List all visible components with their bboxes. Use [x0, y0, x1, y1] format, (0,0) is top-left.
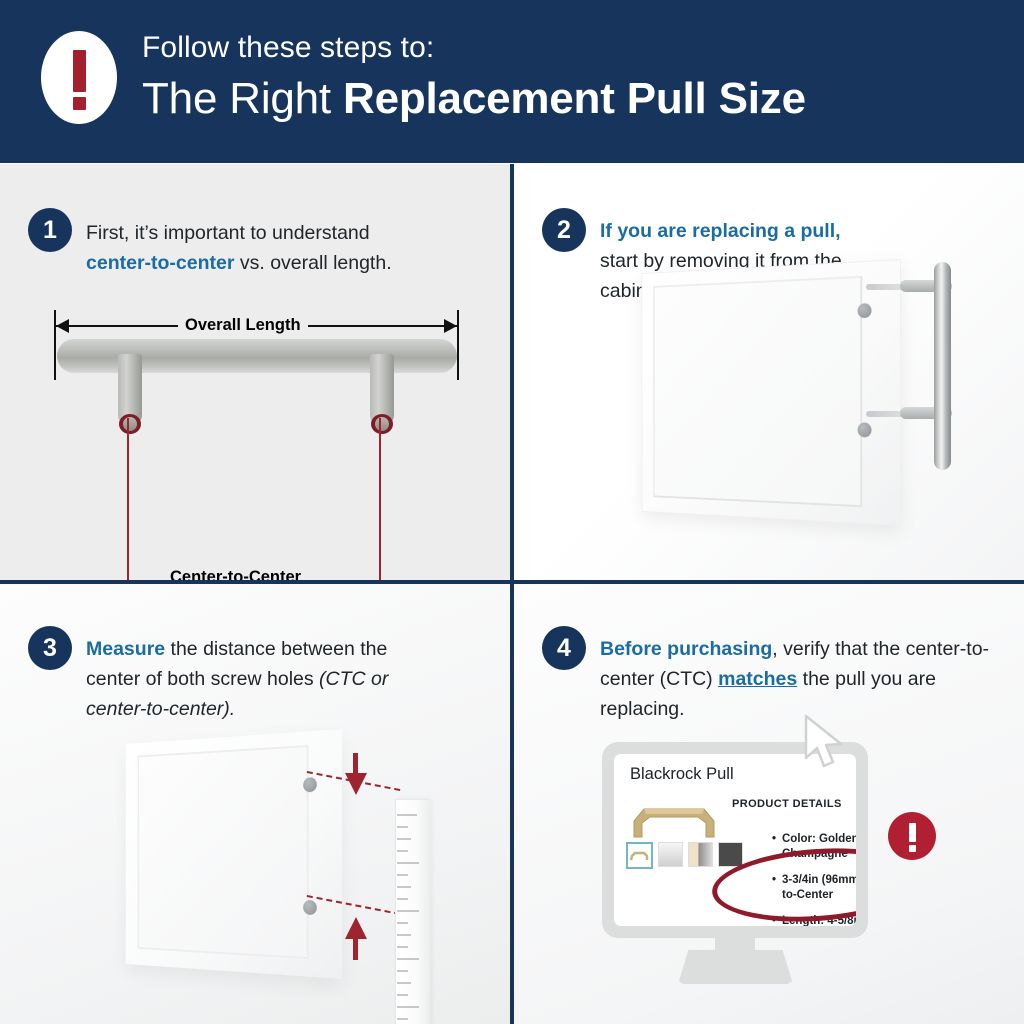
step-panel-4: 4 Before purchasing, verify that the cen… [514, 584, 1024, 1024]
overall-cap-right [457, 310, 459, 380]
cabinet-pull-2 [934, 262, 951, 470]
header-banner: Follow these steps to: The Right Replace… [0, 0, 1024, 163]
thumbnail-2[interactable] [658, 842, 683, 867]
screw-hole-top-2 [858, 303, 872, 318]
exclamation-bar [73, 50, 86, 92]
measure-arrow-down-icon [345, 773, 367, 795]
header-title-light: The Right [142, 74, 343, 123]
product-details-heading: PRODUCT DETAILS [732, 798, 842, 810]
matches-link[interactable]: matches [718, 668, 797, 690]
cabinet-door-3 [126, 729, 342, 979]
step2-bold: If you are replacing a pull, [600, 220, 841, 242]
infographic-root: Follow these steps to: The Right Replace… [0, 0, 1024, 1024]
ctc-label: Center-to-Center [170, 568, 301, 580]
screw-hole-right [371, 414, 393, 434]
header-title: The Right Replacement Pull Size [142, 74, 806, 124]
overall-arrow-left-icon [56, 319, 69, 333]
step3-bold: Measure [86, 638, 165, 660]
product-title: Blackrock Pull [630, 765, 734, 784]
cabinet-door-2 [642, 259, 901, 526]
pull-diagram: Overall Length Center-to-Center (CTC) [0, 164, 510, 580]
monitor-screen: Blackrock Pull PRODUCT DETAILS Color: Go… [614, 754, 856, 926]
ctc-tick-right [379, 418, 381, 580]
step-panel-1: 1 First, it’s important to understand ce… [0, 164, 510, 580]
step4-bold: Before purchasing [600, 638, 772, 660]
horizontal-divider [0, 580, 1024, 584]
vertical-divider [510, 164, 514, 1024]
header-kicker: Follow these steps to: [142, 31, 434, 65]
monitor-neck [715, 938, 755, 952]
screw-hole-bottom-3 [303, 900, 317, 915]
ruler [395, 799, 430, 1024]
step-text-3: Measure the distance between the center … [86, 634, 426, 724]
step-text-4: Before purchasing, verify that the cente… [600, 634, 990, 724]
alert-badge-icon [888, 812, 936, 860]
thumbnail-1[interactable] [626, 842, 653, 869]
thumbnail-strip[interactable] [626, 842, 743, 869]
step-badge-2: 2 [542, 208, 586, 252]
measure-arrow-up-icon [345, 917, 367, 939]
measure-stem-top [353, 753, 358, 775]
pull-bar [57, 339, 457, 373]
step-badge-3: 3 [28, 626, 72, 670]
exclamation-icon [41, 31, 117, 124]
thumbnail-3[interactable] [688, 842, 713, 867]
door-inset-2 [653, 276, 862, 507]
product-image [628, 795, 720, 839]
header-title-bold: Replacement Pull Size [343, 74, 806, 123]
exclamation-dot [73, 97, 86, 110]
monitor-base [678, 950, 793, 984]
door-inset-3 [137, 745, 308, 959]
measure-stem-bottom [353, 938, 358, 960]
step-panel-2: 2 If you are replacing a pull, start by … [514, 164, 1024, 580]
step-panel-3: 3 Measure the distance between the cente… [0, 584, 510, 1024]
overall-arrow-right-icon [444, 319, 457, 333]
screw-hole-bottom-2 [858, 422, 872, 437]
screw-hole-left [119, 414, 141, 434]
screw-hole-top-3 [303, 777, 317, 792]
cursor-icon [802, 714, 848, 772]
step-badge-4: 4 [542, 626, 586, 670]
ctc-tick-left [127, 418, 129, 580]
overall-length-label: Overall Length [178, 316, 308, 335]
